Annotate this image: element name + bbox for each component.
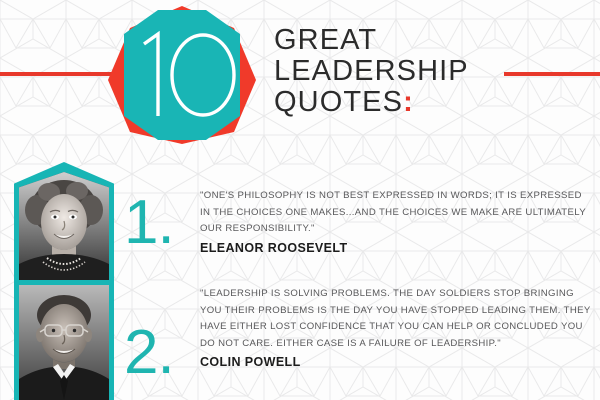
- title-line-1: GREAT: [274, 25, 469, 56]
- portrait-colin-powell: [19, 285, 109, 400]
- header: GREAT LEADERSHIP QUOTES:: [0, 0, 600, 150]
- portrait-frame-colin-powell: [14, 280, 114, 400]
- badge-teal-octagon: [124, 10, 240, 140]
- portrait-eleanor-roosevelt: [19, 172, 109, 282]
- portrait-frame-eleanor-roosevelt: [14, 162, 114, 282]
- quote-number-1: 1.: [124, 192, 198, 254]
- page-title: GREAT LEADERSHIP QUOTES:: [274, 25, 469, 118]
- quote-body-1: "ONE'S PHILOSOPHY IS NOT BEST EXPRESSED …: [200, 188, 594, 257]
- portrait-column: [14, 162, 114, 400]
- quote-item-2: 2. "LEADERSHIP IS SOLVING PROBLEMS. THE …: [124, 286, 594, 371]
- quote-item-1: 1. "ONE'S PHILOSOPHY IS NOT BEST EXPRESS…: [124, 188, 594, 257]
- title-line-2: LEADERSHIP: [274, 56, 469, 87]
- quote-author-1: ELEANOR ROOSEVELT: [200, 240, 594, 257]
- quote-author-2: COLIN POWELL: [200, 354, 594, 371]
- title-line-3-text: QUOTES: [274, 86, 403, 118]
- quote-number-2: 2.: [124, 322, 198, 384]
- number-badge-icon: [108, 4, 256, 146]
- title-line-3: QUOTES:: [274, 87, 469, 118]
- quote-text-1: "ONE'S PHILOSOPHY IS NOT BEST EXPRESSED …: [200, 188, 594, 238]
- quote-text-2: "LEADERSHIP IS SOLVING PROBLEMS. THE DAY…: [200, 286, 594, 352]
- quote-body-2: "LEADERSHIP IS SOLVING PROBLEMS. THE DAY…: [200, 286, 594, 371]
- title-colon: :: [403, 86, 414, 118]
